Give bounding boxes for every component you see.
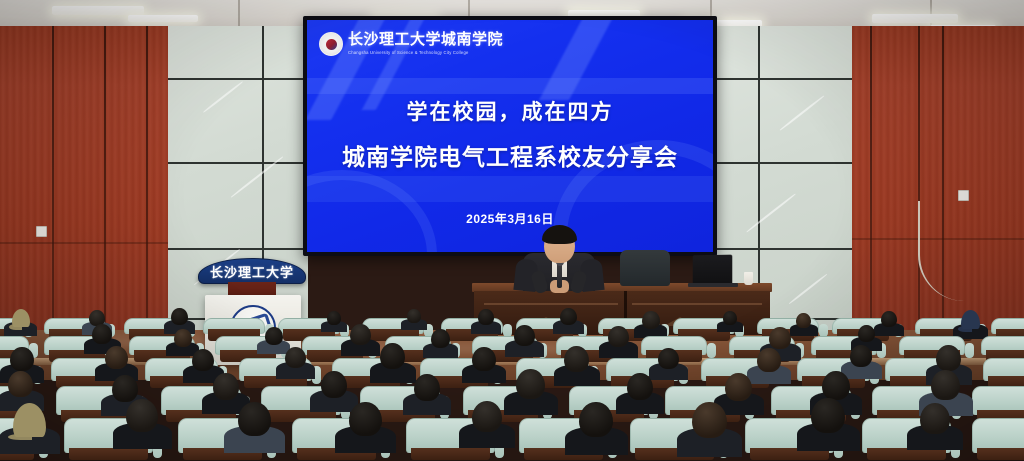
audience-member — [105, 346, 128, 369]
audience-member — [92, 324, 112, 344]
ceiling-light-panel — [872, 14, 958, 23]
audience-member — [881, 311, 897, 327]
audience-member — [723, 311, 737, 325]
audience-member — [327, 311, 341, 325]
audience-member — [171, 308, 188, 325]
screen-display: 长沙理工大学城南学院 Changsha University of Scienc… — [307, 20, 713, 252]
wood-panel-seam — [146, 26, 148, 356]
wood-panel-seam — [942, 26, 944, 356]
speaker-hands — [550, 280, 569, 293]
audience-member — [126, 399, 158, 432]
hanging-cable — [918, 201, 964, 301]
tile-grout-line — [712, 162, 852, 164]
audience-member — [858, 325, 875, 342]
audience-member — [380, 343, 405, 369]
audience-member — [920, 403, 950, 434]
audience-member — [414, 374, 440, 401]
screen-logo-subtext: Changsha University of Science & Technol… — [348, 50, 503, 55]
audience-member — [112, 375, 138, 402]
auditorium-seat — [981, 336, 1024, 355]
auditorium-seat — [972, 386, 1024, 415]
wood-panel-seam — [918, 26, 920, 356]
audience-member — [10, 347, 34, 371]
podium-sign-text: 长沙理工大学 — [210, 262, 294, 281]
audience-member — [564, 346, 589, 372]
speaker-head — [544, 228, 575, 263]
audience-member — [472, 401, 502, 432]
audience-member — [407, 309, 421, 323]
screen-band — [307, 78, 713, 94]
audience-member — [769, 327, 791, 349]
podium-sign: 长沙理工大学 — [198, 258, 306, 284]
power-outlet — [36, 226, 47, 237]
auditorium-seat — [203, 318, 265, 334]
audience-member — [349, 402, 382, 436]
audience-member — [608, 326, 629, 347]
tile-grout-line — [168, 78, 308, 80]
audience-member — [658, 348, 679, 369]
screen-title-line2: 城南学院电气工程系校友分享会 — [307, 138, 713, 172]
audience-member — [560, 308, 577, 325]
audience-member — [850, 345, 872, 367]
wood-panel-seam — [870, 26, 872, 356]
audience-member — [822, 371, 850, 400]
screen-logo-text: 长沙理工大学城南学院 — [348, 33, 503, 48]
audience-member — [238, 402, 271, 436]
audience-member — [936, 345, 961, 371]
audience-member — [472, 347, 496, 371]
auditorium-seat — [991, 318, 1024, 334]
audience-member — [321, 371, 347, 398]
marble-vein — [203, 81, 244, 113]
wood-panel-seam — [104, 26, 106, 356]
seat-armrest — [965, 343, 974, 358]
ceiling-light-panel — [52, 6, 144, 15]
microphone-icon — [557, 264, 562, 288]
audience-member — [796, 313, 811, 328]
laptop-base — [688, 283, 738, 287]
laptop-computer — [693, 255, 733, 286]
marble-vein — [746, 193, 796, 233]
auditorium-seat — [983, 358, 1024, 381]
wood-panel-seam — [52, 26, 54, 356]
audience-member — [627, 373, 653, 400]
audience-member — [579, 402, 613, 437]
table-inlay — [484, 303, 618, 305]
audience-member — [285, 347, 306, 368]
paper-cup — [744, 272, 753, 285]
audience-member — [8, 371, 33, 397]
audience-member — [516, 369, 545, 399]
table-inlay — [632, 303, 762, 305]
power-outlet — [958, 190, 969, 201]
left-wood-wall — [0, 26, 172, 356]
marble-vein — [788, 273, 827, 304]
audience-member — [757, 348, 781, 372]
audience-member — [931, 370, 960, 400]
marble-vein — [779, 95, 824, 131]
audience-member — [642, 311, 660, 329]
audience-member — [192, 349, 214, 371]
ceiling-light-panel — [128, 15, 198, 22]
seat-armrest — [707, 343, 716, 358]
audience-member — [478, 309, 494, 325]
university-logo-icon — [319, 32, 343, 56]
audience-member — [514, 325, 535, 346]
audience-member — [692, 402, 727, 438]
audience-member — [725, 373, 752, 401]
tile-grout-line — [168, 162, 308, 164]
audience-member — [265, 327, 283, 345]
screen-date: 2025年3月16日 — [307, 210, 713, 227]
audience-member — [213, 373, 239, 400]
tile-grout-line — [712, 78, 852, 80]
screen-title-block: 学在校园，成在四方 城南学院电气工程系校友分享会 — [307, 96, 713, 172]
seat-armrest — [503, 324, 512, 337]
screen-logo: 长沙理工大学城南学院 Changsha University of Scienc… — [319, 32, 503, 56]
screen-title-line1: 学在校园，成在四方 — [307, 96, 713, 126]
audience-member — [811, 398, 845, 433]
tile-grout-line — [712, 248, 852, 250]
audience-member — [174, 329, 192, 347]
audience-member — [350, 324, 371, 345]
auditorium-seat — [972, 418, 1024, 453]
seat-armrest — [819, 324, 828, 337]
led-screen: 长沙理工大学城南学院 Changsha University of Scienc… — [303, 16, 717, 256]
empty-chair — [620, 250, 670, 286]
audience-member — [431, 329, 450, 348]
right-wood-wall — [846, 26, 1024, 356]
wood-panel-line — [0, 242, 172, 244]
lecture-hall-photo: 长沙理工大学城南学院 Changsha University of Scienc… — [0, 0, 1024, 461]
